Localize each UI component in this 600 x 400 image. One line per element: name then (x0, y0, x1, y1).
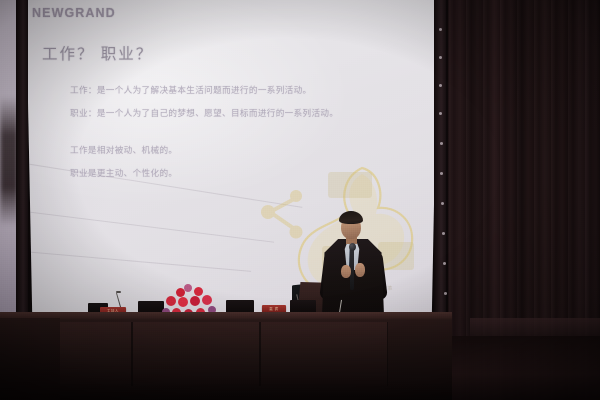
flower-blossom (184, 284, 192, 292)
table-panel (260, 322, 388, 386)
screen-grommet (444, 292, 447, 295)
screen-crease (26, 210, 274, 243)
screen-grommet (441, 202, 444, 205)
desk-microphone-head (116, 291, 121, 293)
screen-crease (26, 160, 302, 208)
flower-blossom (178, 297, 188, 307)
projection-screen (26, 0, 438, 316)
screen-grommet (439, 112, 442, 115)
flower-blossom (202, 295, 212, 305)
screen-grommet (442, 232, 445, 235)
flower-blossom (166, 296, 176, 306)
hall-floor (440, 336, 600, 400)
screen-grommet (440, 172, 443, 175)
flower-blossom (194, 287, 203, 296)
screen-grommet (439, 56, 442, 59)
screen-border-right (434, 0, 446, 322)
screen-grommet (439, 84, 442, 87)
screen-grommet (439, 28, 442, 31)
table-panel (132, 322, 260, 386)
presentation-photo: NEWGRAND 工作？ 职业？ 工作：是一个人为了解决基本生活问题而进行的一系… (0, 0, 600, 400)
screen-border-left (16, 0, 28, 322)
screen-grommet (443, 262, 446, 265)
screen-grommet (440, 142, 443, 145)
screen-crease (26, 250, 251, 272)
flower-blossom (190, 296, 200, 306)
stage-side-wall (0, 318, 60, 400)
